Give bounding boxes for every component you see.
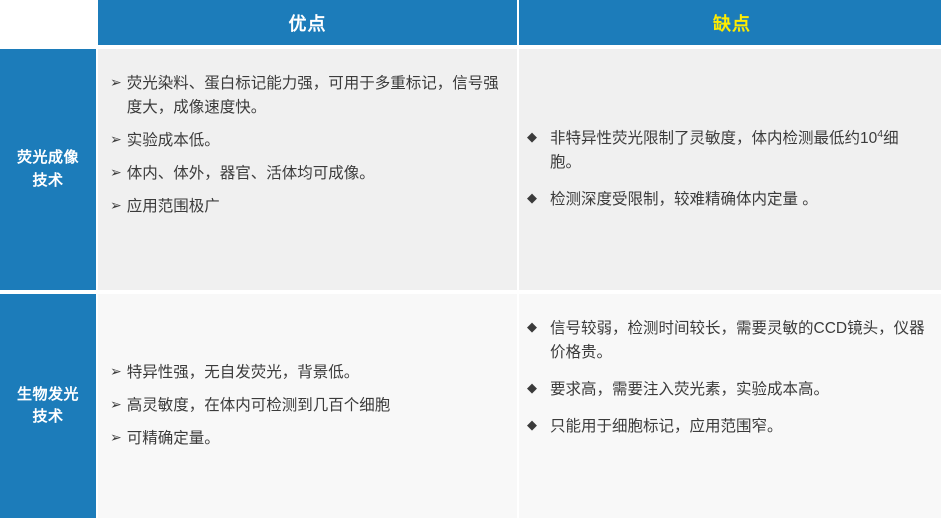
list-item-text: 可精确定量。 [127, 427, 503, 451]
row-label-fluorescence-imaging: 荧光成像 技术 [0, 49, 96, 290]
list-item: ➢ 应用范围极广 [110, 195, 503, 219]
list-item-text: 实验成本低。 [127, 129, 503, 153]
list-item-text: 荧光染料、蛋白标记能力强，可用于多重标记，信号强度大，成像速度快。 [127, 72, 503, 120]
list-item-text: 体内、体外，器官、活体均可成像。 [127, 162, 503, 186]
list-item: ◆ 非特异性荧光限制了灵敏度，体内检测最低约104细胞。 [527, 127, 929, 175]
arrow-bullet-icon: ➢ [110, 72, 122, 95]
arrow-bullet-icon: ➢ [110, 129, 122, 152]
list-item: ➢ 实验成本低。 [110, 129, 503, 153]
arrow-bullet-icon: ➢ [110, 427, 122, 450]
arrow-bullet-icon: ➢ [110, 394, 122, 417]
list-item-text: 应用范围极广 [127, 195, 503, 219]
list-item: ➢ 特异性强，无自发荧光，背景低。 [110, 361, 503, 385]
list-item-text: 只能用于细胞标记，应用范围窄。 [550, 415, 929, 439]
table-corner-cell [0, 0, 96, 45]
row-label-bioluminescence: 生物发光 技术 [0, 294, 96, 518]
list-item: ➢ 体内、体外，器官、活体均可成像。 [110, 162, 503, 186]
pros-list-fluorescence: ➢ 荧光染料、蛋白标记能力强，可用于多重标记，信号强度大，成像速度快。 ➢ 实验… [110, 63, 503, 228]
cons-list-bioluminescence: ◆ 信号较弱，检测时间较长，需要灵敏的CCD镜头，仪器价格贵。 ◆ 要求高，需要… [527, 304, 929, 452]
column-header-cons: 缺点 [519, 0, 941, 45]
row-label-line-1: 荧光成像 [17, 147, 79, 170]
diamond-bullet-icon: ◆ [527, 378, 537, 401]
diamond-bullet-icon: ◆ [527, 317, 537, 340]
list-item: ◆ 检测深度受限制，较难精确体内定量 。 [527, 188, 929, 212]
comparison-table: 优点 缺点 荧光成像 技术 ➢ 荧光染料、蛋白标记能力强，可用于多重标记，信号强… [0, 0, 941, 516]
list-item: ◆ 只能用于细胞标记，应用范围窄。 [527, 415, 929, 439]
list-item-text: 要求高，需要注入荧光素，实验成本高。 [550, 378, 929, 402]
pros-list-bioluminescence: ➢ 特异性强，无自发荧光，背景低。 ➢ 高灵敏度，在体内可检测到几百个细胞 ➢ … [110, 352, 503, 460]
arrow-bullet-icon: ➢ [110, 195, 122, 218]
diamond-bullet-icon: ◆ [527, 127, 537, 150]
cell-cons-fluorescence-imaging: ◆ 非特异性荧光限制了灵敏度，体内检测最低约104细胞。 ◆ 检测深度受限制，较… [519, 49, 941, 290]
list-item-text: 非特异性荧光限制了灵敏度，体内检测最低约104细胞。 [550, 127, 929, 175]
column-header-pros-label: 优点 [289, 10, 327, 36]
column-header-pros: 优点 [98, 0, 517, 45]
row-label-line-2: 技术 [32, 406, 63, 429]
cons-list-fluorescence: ◆ 非特异性荧光限制了灵敏度，体内检测最低约104细胞。 ◆ 检测深度受限制，较… [527, 114, 929, 225]
row-label-line-2: 技术 [32, 170, 63, 193]
list-item-text: 特异性强，无自发荧光，背景低。 [127, 361, 503, 385]
list-item-text: 检测深度受限制，较难精确体内定量 。 [550, 188, 929, 212]
list-item: ➢ 荧光染料、蛋白标记能力强，可用于多重标记，信号强度大，成像速度快。 [110, 72, 503, 120]
list-item: ➢ 可精确定量。 [110, 427, 503, 451]
cell-pros-bioluminescence: ➢ 特异性强，无自发荧光，背景低。 ➢ 高灵敏度，在体内可检测到几百个细胞 ➢ … [98, 294, 517, 518]
cell-pros-fluorescence-imaging: ➢ 荧光染料、蛋白标记能力强，可用于多重标记，信号强度大，成像速度快。 ➢ 实验… [98, 49, 517, 290]
cell-cons-bioluminescence: ◆ 信号较弱，检测时间较长，需要灵敏的CCD镜头，仪器价格贵。 ◆ 要求高，需要… [519, 294, 941, 518]
diamond-bullet-icon: ◆ [527, 415, 537, 438]
column-header-cons-label: 缺点 [713, 10, 751, 36]
diamond-bullet-icon: ◆ [527, 188, 537, 211]
arrow-bullet-icon: ➢ [110, 162, 122, 185]
list-item-text: 高灵敏度，在体内可检测到几百个细胞 [127, 394, 503, 418]
row-label-line-1: 生物发光 [17, 384, 79, 407]
list-item: ◆ 要求高，需要注入荧光素，实验成本高。 [527, 378, 929, 402]
list-item-text: 信号较弱，检测时间较长，需要灵敏的CCD镜头，仪器价格贵。 [550, 317, 929, 365]
arrow-bullet-icon: ➢ [110, 361, 122, 384]
list-item: ➢ 高灵敏度，在体内可检测到几百个细胞 [110, 394, 503, 418]
list-item: ◆ 信号较弱，检测时间较长，需要灵敏的CCD镜头，仪器价格贵。 [527, 317, 929, 365]
